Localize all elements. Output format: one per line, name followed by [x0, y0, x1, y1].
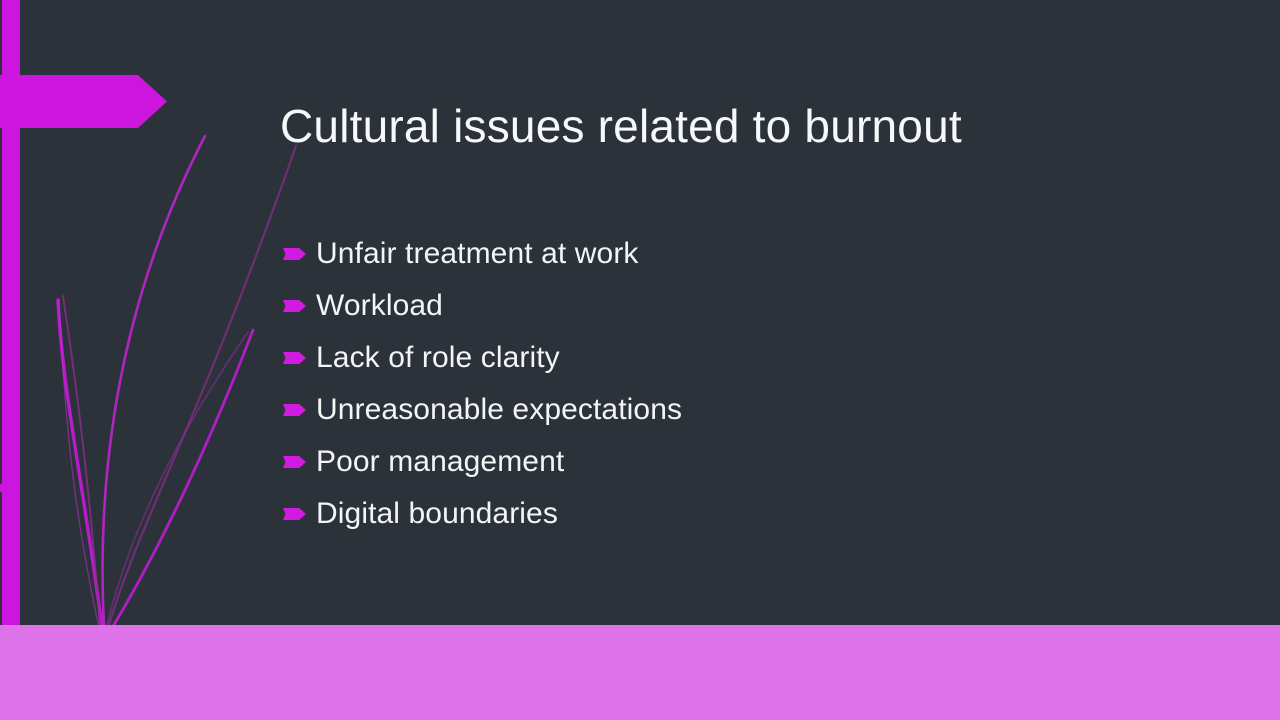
bottom-orchid-band	[0, 625, 1280, 720]
list-item-label: Lack of role clarity	[316, 338, 560, 378]
list-item: Unreasonable expectations	[283, 384, 1183, 436]
list-item: Workload	[283, 280, 1183, 332]
page-title: Cultural issues related to burnout	[280, 97, 1220, 155]
presentation-slide: Cultural issues related to burnout Unfai…	[0, 0, 1280, 720]
bullet-list: Unfair treatment at work Workload Lack o…	[283, 228, 1183, 540]
pennant-bullet-icon	[283, 404, 306, 416]
list-item: Unfair treatment at work	[283, 228, 1183, 280]
list-item-label: Digital boundaries	[316, 494, 558, 534]
vertical-magenta-bar	[0, 0, 20, 625]
list-item-label: Poor management	[316, 442, 564, 482]
list-item: Lack of role clarity	[283, 332, 1183, 384]
list-item: Poor management	[283, 436, 1183, 488]
list-item-label: Unfair treatment at work	[316, 234, 639, 274]
pennant-bullet-icon	[283, 456, 306, 468]
pennant-bullet-icon	[283, 248, 306, 260]
pennant-bullet-icon	[283, 352, 306, 364]
pennant-bullet-icon	[283, 508, 306, 520]
pennant-bullet-icon	[283, 300, 306, 312]
left-arrow-banner-shape	[0, 75, 167, 128]
list-item-label: Unreasonable expectations	[316, 390, 682, 430]
curved-grass-blades-ornament	[58, 136, 296, 628]
list-item: Digital boundaries	[283, 488, 1183, 540]
list-item-label: Workload	[316, 286, 443, 326]
